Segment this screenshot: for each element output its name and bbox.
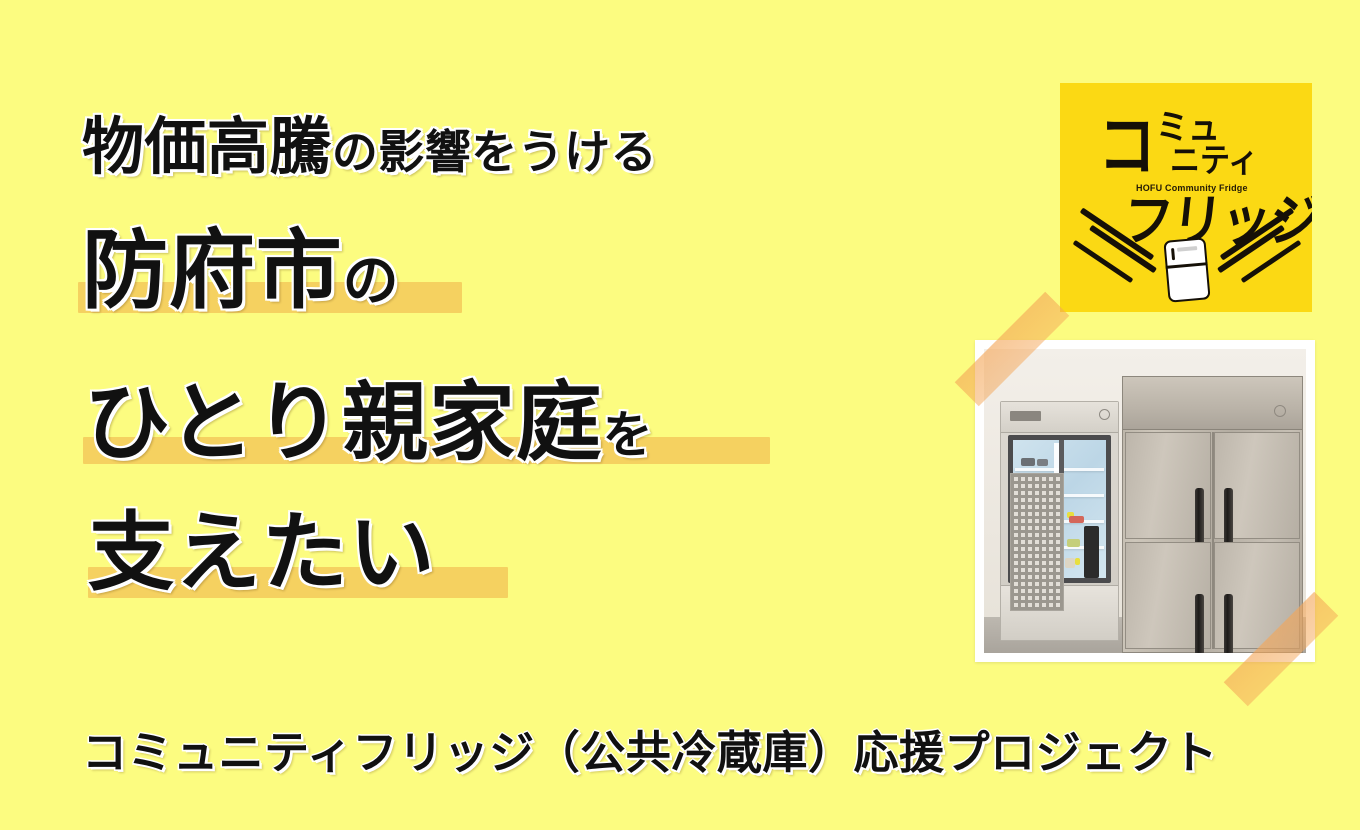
fridge-center-seam xyxy=(1212,432,1214,649)
headline-line-2: 防府市の xyxy=(82,200,399,325)
headline-line-2-main: 防府市 xyxy=(82,223,343,319)
headline-line-3-particle: を xyxy=(603,407,654,463)
glass-fridge-blackbox xyxy=(1084,526,1099,578)
fridge-item xyxy=(1067,539,1080,547)
community-fridge-photo xyxy=(984,349,1306,653)
fridge-item xyxy=(1021,458,1036,466)
headline-line-4: 支えたい xyxy=(88,482,435,607)
photo-card-wrapper xyxy=(975,340,1315,662)
logo-line-2: フリッジ xyxy=(1120,193,1312,249)
stainless-fridge-head xyxy=(1123,377,1301,429)
stainless-fridge-dial xyxy=(1274,405,1286,417)
glass-fridge-brand xyxy=(1010,411,1040,421)
fridge-door-bottom-right xyxy=(1214,542,1300,649)
refrigerator-icon xyxy=(1163,237,1210,302)
headline-line-1-rest: の影響をうける xyxy=(332,126,657,178)
headline-line-3-main: ひとり親家庭 xyxy=(84,375,603,471)
fridge-item xyxy=(1065,558,1074,568)
logo-kana-top: ミュ xyxy=(1156,111,1220,144)
community-fridge-logo: コ ミュ ニティ HOFU Community Fridge フリッジ xyxy=(1060,83,1312,312)
footer-tagline: コミュニティフリッジ（公共冷蔵庫）応援プロジェクト xyxy=(82,716,1218,781)
headline-line-2-particle: の xyxy=(343,249,400,312)
fridge-handle xyxy=(1224,594,1233,653)
headline-block: 物価高騰の影響をうける 防府市の ひとり親家庭を 支えたい xyxy=(0,0,960,640)
logo-inner: コ ミュ ニティ HOFU Community Fridge フリッジ xyxy=(1060,83,1312,312)
headline-line-1: 物価高騰の影響をうける xyxy=(82,96,657,186)
stainless-four-door-fridge xyxy=(1122,376,1302,653)
fridge-door-top-left xyxy=(1125,432,1211,539)
fridge-handle xyxy=(1195,594,1204,653)
headline-line-1-emphasis: 物価高騰 xyxy=(82,113,332,182)
poster-canvas: 物価高騰の影響をうける 防府市の ひとり親家庭を 支えたい コミュニティフリッジ… xyxy=(0,0,1360,830)
refrigerator-icon-handle xyxy=(1171,248,1175,260)
fridge-item xyxy=(1069,516,1084,523)
fridge-item xyxy=(1037,459,1047,466)
refrigerator-icon-plate xyxy=(1177,246,1197,252)
fridge-item xyxy=(1075,558,1081,565)
fridge-door-bottom-left xyxy=(1125,542,1211,649)
photo-card xyxy=(975,340,1315,662)
fridge-door-top-right xyxy=(1214,432,1300,539)
glass-fridge-grille xyxy=(1010,473,1064,611)
logo-char-ko: コ xyxy=(1098,113,1154,181)
glass-door-fridge xyxy=(1000,401,1119,641)
refrigerator-icon-divider xyxy=(1166,262,1208,268)
logo-kana-bottom: ニティ xyxy=(1170,145,1258,178)
headline-line-3: ひとり親家庭を xyxy=(84,352,653,477)
glass-fridge-knob xyxy=(1099,409,1110,420)
